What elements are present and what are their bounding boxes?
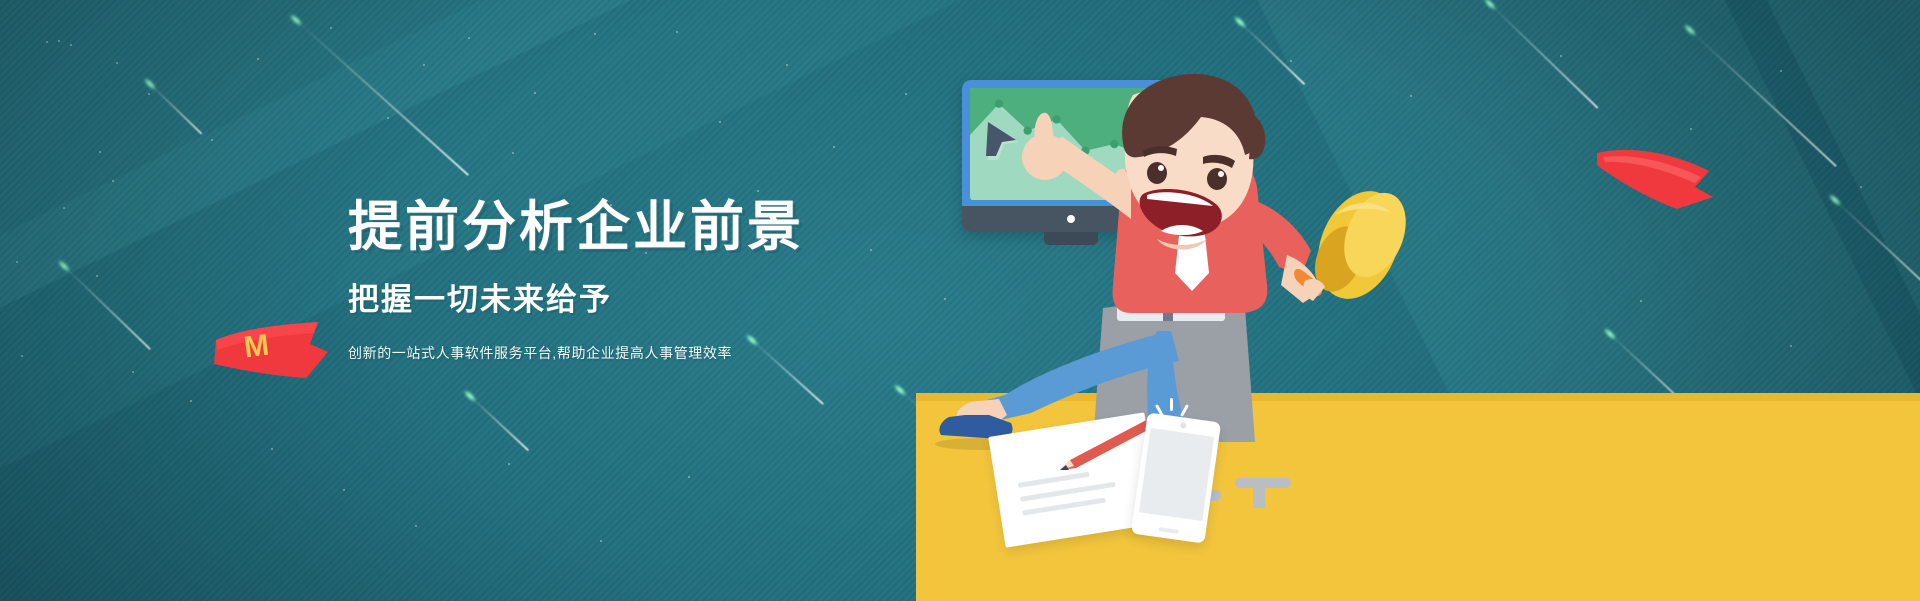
page-subtitle: 把握一切未来给予 <box>348 274 968 319</box>
ribbon-letter: M <box>242 329 271 366</box>
phone-screen <box>1139 428 1214 521</box>
phone-camera-icon <box>1180 422 1187 429</box>
ribbon-banner-icon <box>1597 145 1715 209</box>
hero-copy: 提前分析企业前景 把握一切未来给予 创新的一站式人事软件服务平台,帮助企业提高人… <box>348 196 968 363</box>
phone-home-button[interactable] <box>1158 527 1178 534</box>
hero-banner: M <box>0 0 1920 601</box>
ribbon-banner-icon: M <box>214 322 332 378</box>
megaphone-icon <box>1294 179 1417 311</box>
document-text-line <box>1022 498 1106 516</box>
page-title: 提前分析企业前景 <box>348 196 968 260</box>
page-description: 创新的一站式人事软件服务平台,帮助企业提高人事管理效率 <box>348 343 968 363</box>
